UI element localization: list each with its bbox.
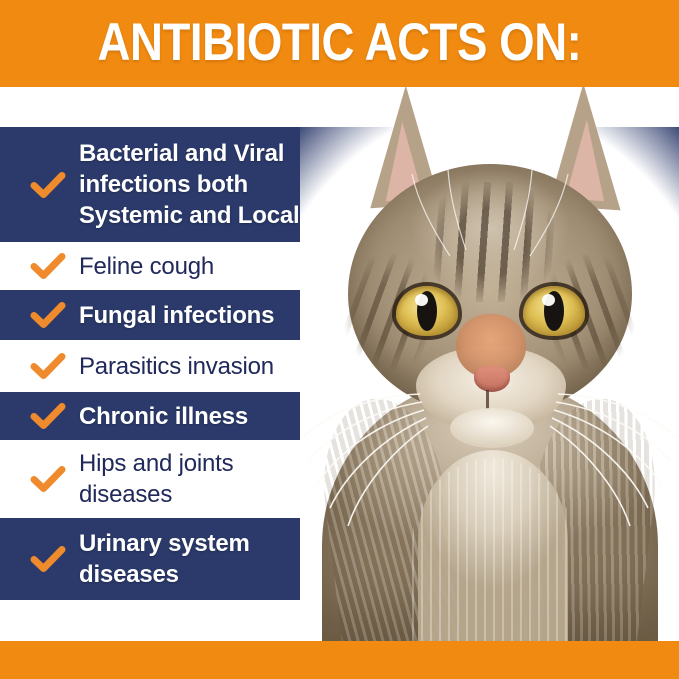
checklist-item: Fungal infections xyxy=(0,290,679,340)
check-icon xyxy=(30,170,66,200)
checklist-item-label: Feline cough xyxy=(79,251,214,282)
check-icon xyxy=(30,401,66,431)
product-infographic-poster: Bacterial and Viral infections both Syst… xyxy=(0,0,679,679)
checklist-item-label: Urinary system diseases xyxy=(79,528,250,590)
checklist-item-label: Fungal infections xyxy=(79,300,274,331)
footer-bar xyxy=(0,641,679,679)
checklist-item-label: Bacterial and Viral infections both Syst… xyxy=(79,138,300,231)
checklist-item-label: Parasitics invasion xyxy=(79,351,274,382)
check-icon xyxy=(30,351,66,381)
check-icon xyxy=(30,300,66,330)
checklist-item: Feline cough xyxy=(0,242,679,290)
checklist-item: Bacterial and Viral infections both Syst… xyxy=(0,127,679,242)
checklist: Bacterial and Viral infections both Syst… xyxy=(0,0,679,679)
checklist-item-label: Hips and joints diseases xyxy=(79,448,233,510)
checklist-item-label: Chronic illness xyxy=(79,401,248,432)
checklist-item: Hips and joints diseases xyxy=(0,440,679,518)
check-icon xyxy=(30,544,66,574)
checklist-item: Urinary system diseases xyxy=(0,518,679,600)
checklist-item: Chronic illness xyxy=(0,392,679,440)
check-icon xyxy=(30,251,66,281)
checklist-item: Parasitics invasion xyxy=(0,340,679,392)
page-title: ANTIBIOTIC ACTS ON: xyxy=(48,14,632,71)
check-icon xyxy=(30,464,66,494)
